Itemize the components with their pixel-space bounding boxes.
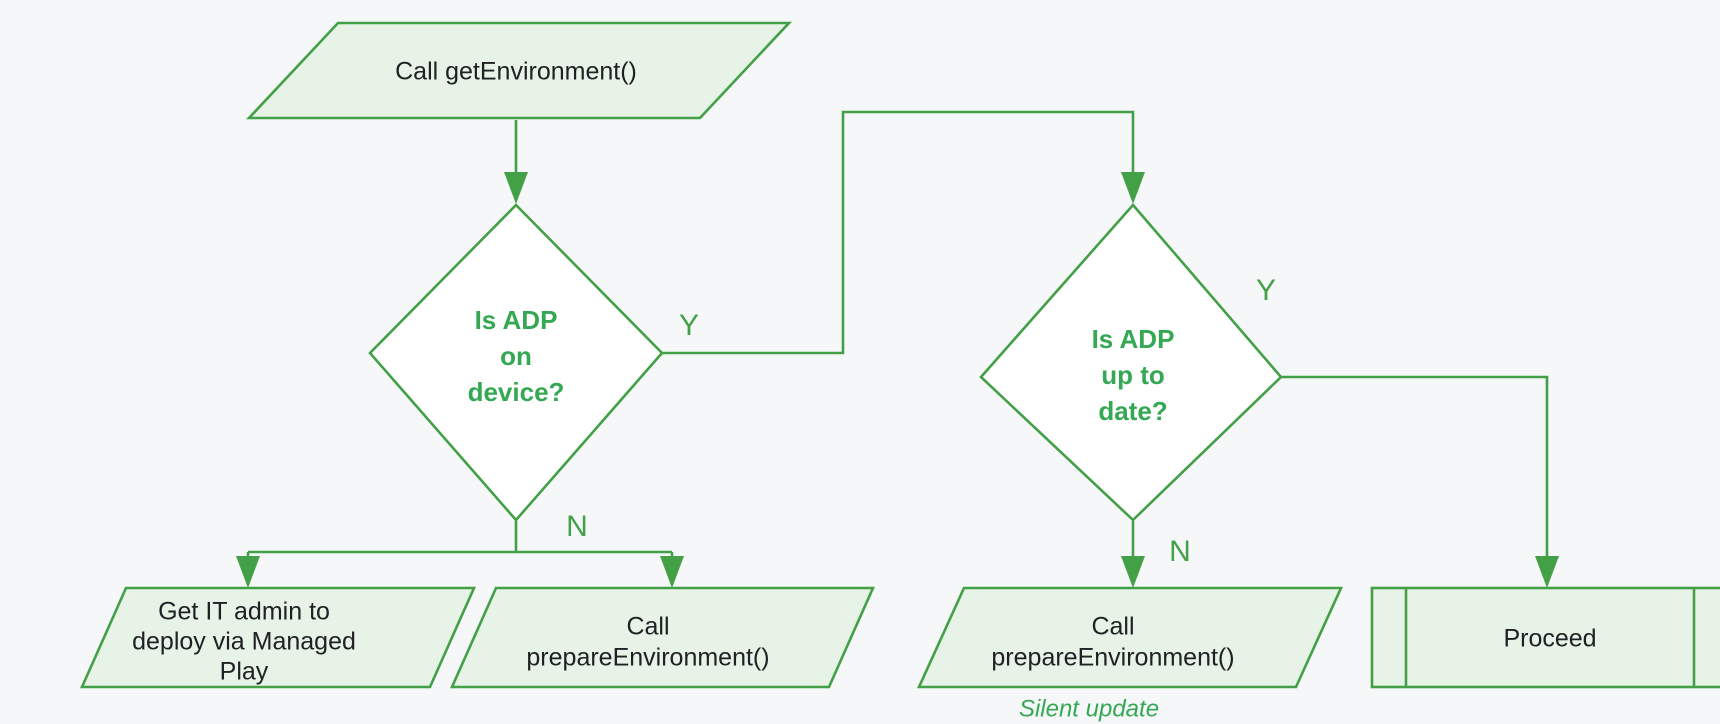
- node-get-it-admin-deploy[interactable]: Get IT admin to deploy via Managed Play: [82, 588, 474, 687]
- prepare-left-line1: Call: [626, 613, 669, 641]
- prepare-right-line1: Call: [1091, 613, 1134, 641]
- decision2-line3: date?: [1098, 396, 1167, 426]
- managed-play-line2: deploy via Managed: [132, 628, 356, 656]
- caption-silent-update: Silent update: [1019, 695, 1159, 722]
- node-is-adp-on-device[interactable]: Is ADP on device?: [370, 205, 662, 520]
- edge-label-decision2-no: N: [1169, 535, 1191, 568]
- node-call-get-environment[interactable]: Call getEnvironment(): [249, 23, 789, 118]
- arrow-head-icon: [504, 172, 528, 204]
- flowchart-svg: Call getEnvironment() Is ADP on device? …: [0, 0, 1720, 724]
- arrow-head-icon: [660, 556, 684, 588]
- node-call-prepare-environment-left[interactable]: Call prepareEnvironment(): [452, 588, 873, 687]
- decision2-line2: up to: [1101, 360, 1165, 390]
- edge-label-decision2-yes: Y: [1256, 274, 1276, 307]
- node-proceed-label: Proceed: [1503, 625, 1596, 653]
- prepare-left-line2: prepareEnvironment(): [526, 644, 769, 672]
- edge-start-to-decision1: [504, 120, 528, 204]
- decision2-line1: Is ADP: [1092, 324, 1175, 354]
- edge-decision2-no: [1121, 521, 1145, 588]
- edge-decision1-no-bus: [236, 521, 684, 588]
- node-proceed[interactable]: Proceed: [1372, 588, 1720, 687]
- managed-play-line3: Play: [220, 658, 269, 686]
- managed-play-line1: Get IT admin to: [158, 598, 330, 626]
- node-call-prepare-environment-right[interactable]: Call prepareEnvironment(): [919, 588, 1341, 687]
- node-call-get-environment-label: Call getEnvironment(): [395, 58, 637, 86]
- decision1-line2: on: [500, 341, 532, 371]
- edge-label-decision1-yes: Y: [679, 309, 699, 342]
- arrow-head-icon: [1121, 172, 1145, 204]
- edge-label-decision1-no: N: [566, 510, 588, 543]
- decision1-line1: Is ADP: [475, 305, 558, 335]
- arrow-head-icon: [1121, 556, 1145, 588]
- flowchart-canvas: Call getEnvironment() Is ADP on device? …: [0, 0, 1720, 724]
- arrow-head-icon: [236, 556, 260, 588]
- arrow-head-icon: [1535, 556, 1559, 588]
- prepare-right-line2: prepareEnvironment(): [991, 644, 1234, 672]
- edge-decision2-yes-to-proceed: [1281, 377, 1559, 588]
- decision1-line3: device?: [468, 377, 565, 407]
- node-is-adp-up-to-date[interactable]: Is ADP up to date?: [981, 205, 1281, 520]
